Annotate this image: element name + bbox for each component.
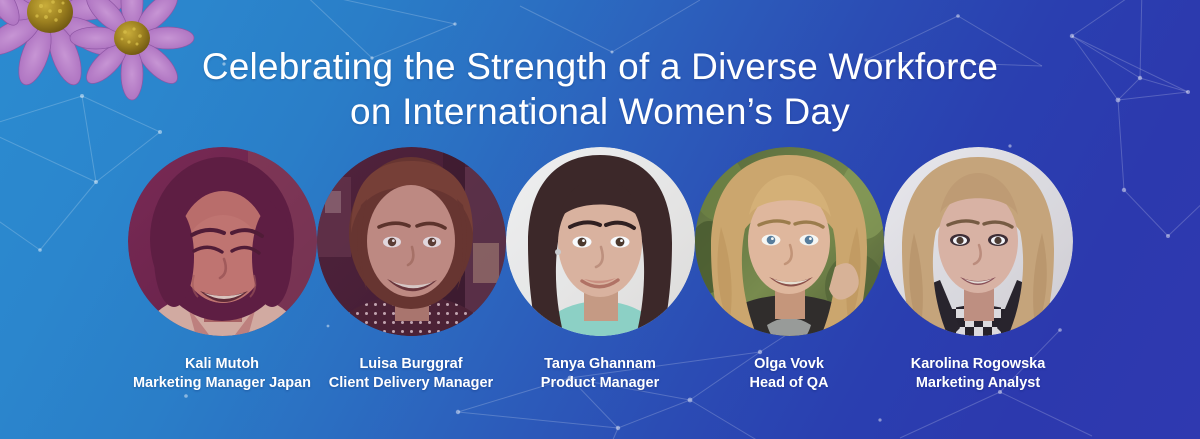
- portrait-karolina-rogowska: [884, 147, 1073, 336]
- person-role: Marketing Manager Japan: [133, 374, 311, 393]
- banner-headline: Celebrating the Strength of a Diverse Wo…: [0, 44, 1200, 134]
- portrait-olga-vovk: [695, 147, 884, 336]
- headline-line-2: on International Women’s Day: [0, 89, 1200, 134]
- person-caption: Tanya Ghannam Product Manager: [541, 355, 659, 393]
- person-caption: Olga Vovk Head of QA: [750, 355, 829, 393]
- portrait-kali-mutoh: [128, 147, 317, 336]
- person-card-karolina-rogowska: Karolina Rogowska Marketing Analyst: [883, 147, 1073, 393]
- person-caption: Luisa Burggraf Client Delivery Manager: [329, 355, 493, 393]
- portrait-tanya-ghannam: [506, 147, 695, 336]
- women-day-banner: Celebrating the Strength of a Diverse Wo…: [0, 0, 1200, 439]
- person-role: Marketing Analyst: [911, 374, 1046, 393]
- person-name: Kali Mutoh: [185, 356, 259, 372]
- employee-portrait-row: Kali Mutoh Marketing Manager Japan: [0, 147, 1200, 393]
- portrait-luisa-burggraf: [317, 147, 506, 336]
- person-caption: Kali Mutoh Marketing Manager Japan: [133, 355, 311, 393]
- person-name: Tanya Ghannam: [544, 356, 656, 372]
- headline-line-1: Celebrating the Strength of a Diverse Wo…: [202, 46, 998, 87]
- person-card-luisa-burggraf: Luisa Burggraf Client Delivery Manager: [316, 147, 506, 393]
- person-role: Product Manager: [541, 374, 659, 393]
- person-card-olga-vovk: Olga Vovk Head of QA: [694, 147, 884, 393]
- person-role: Head of QA: [750, 374, 829, 393]
- person-caption: Karolina Rogowska Marketing Analyst: [911, 355, 1046, 393]
- person-name: Karolina Rogowska: [911, 356, 1046, 372]
- person-card-kali-mutoh: Kali Mutoh Marketing Manager Japan: [127, 147, 317, 393]
- person-name: Luisa Burggraf: [359, 356, 462, 372]
- person-name: Olga Vovk: [754, 356, 824, 372]
- person-role: Client Delivery Manager: [329, 374, 493, 393]
- person-card-tanya-ghannam: Tanya Ghannam Product Manager: [505, 147, 695, 393]
